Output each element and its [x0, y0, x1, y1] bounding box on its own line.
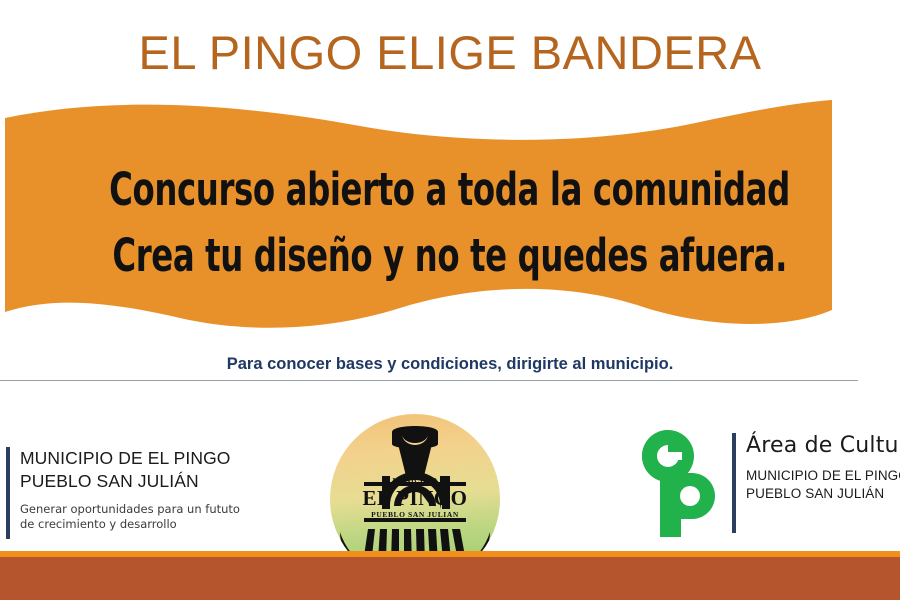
- municipality-name-line-1: MUNICIPIO DE EL PINGO: [20, 447, 306, 470]
- culture-area-title: Área de Cultura: [746, 431, 900, 461]
- vertical-accent-bar: [6, 447, 10, 539]
- municipality-tagline-line-2: de crecimiento y desarrollo: [20, 517, 306, 532]
- banner-line-1: Concurso abierto a toda la comunidad: [110, 157, 791, 223]
- footer-stripe-thick: [0, 557, 900, 600]
- banner-line-2: Crea tu diseño y no te quedes afuera.: [113, 223, 788, 289]
- municipality-tagline-line-1: Generar oportunidades para un fututo: [20, 502, 306, 517]
- culture-subtitle-line-1: MUNICIPIO DE EL PINGO: [746, 467, 900, 485]
- ep-monogram-icon: [638, 427, 730, 539]
- banner-text-block: Concurso abierto a toda la comunidad Cre…: [0, 96, 900, 341]
- logo-row: MUNICIPIO DE EL PINGO PUEBLO SAN JULIÁN …: [0, 405, 900, 555]
- culture-accent-bar: [732, 433, 736, 533]
- culture-area-logo: Área de Cultura MUNICIPIO DE EL PINGO PU…: [638, 427, 900, 539]
- poster-canvas: EL PINGO ELIGE BANDERA Concurso abierto …: [0, 0, 900, 600]
- municipality-name-line-2: PUEBLO SAN JULIÁN: [20, 470, 306, 493]
- municipality-tagline: Generar oportunidades para un fututo de …: [20, 502, 306, 532]
- culture-subtitle-line-2: PUEBLO SAN JULIÁN: [746, 485, 900, 503]
- culture-subtitle: MUNICIPIO DE EL PINGO PUEBLO SAN JULIÁN: [746, 467, 900, 503]
- wavy-banner: Concurso abierto a toda la comunidad Cre…: [0, 96, 900, 341]
- conditions-note: Para conocer bases y condiciones, dirigi…: [0, 355, 900, 374]
- page-title: EL PINGO ELIGE BANDERA: [0, 24, 900, 82]
- culture-text-block: Área de Cultura MUNICIPIO DE EL PINGO PU…: [746, 431, 900, 503]
- municipality-wordmark: MUNICIPIO DE EL PINGO PUEBLO SAN JULIÁN …: [6, 447, 306, 532]
- horizontal-divider: [0, 380, 858, 381]
